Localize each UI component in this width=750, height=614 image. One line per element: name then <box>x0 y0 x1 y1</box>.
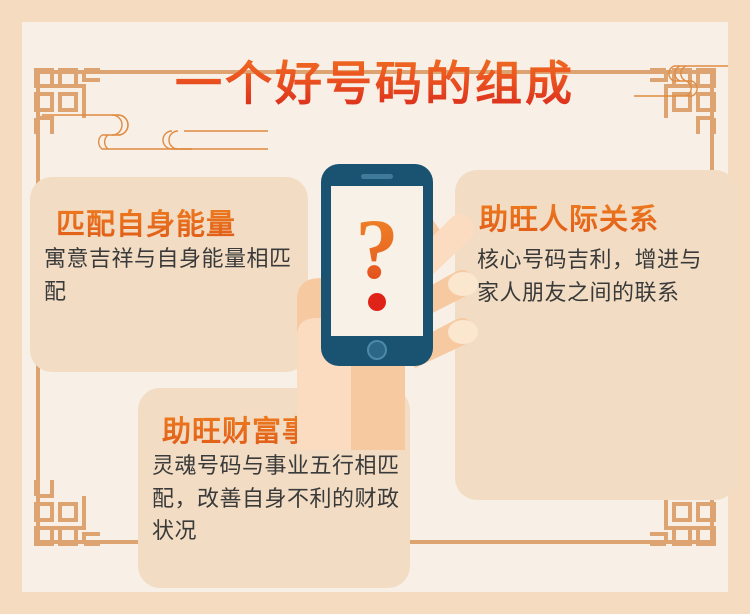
fingertip-middle <box>448 272 478 296</box>
question-mark-icon: ? <box>356 201 399 297</box>
phone-speaker <box>361 174 393 179</box>
card-body-text: 灵魂号码与事业五行相匹配，改善自身不利的财政状况 <box>152 450 404 548</box>
phone-home-button <box>368 341 386 359</box>
poster-root: 一个好号码的组成 匹配自身能量 寓意吉祥与自身能量相匹配 助旺人际关系 核心号码… <box>0 0 750 614</box>
hand-holding-phone-illustration: ? <box>255 150 515 450</box>
card-heading: 匹配自身能量 <box>56 201 236 243</box>
page-title: 一个好号码的组成 <box>0 45 750 114</box>
corner-ornament-bottom-left <box>26 472 108 554</box>
fingertip-ring <box>448 320 478 344</box>
question-mark-dot <box>368 293 386 311</box>
